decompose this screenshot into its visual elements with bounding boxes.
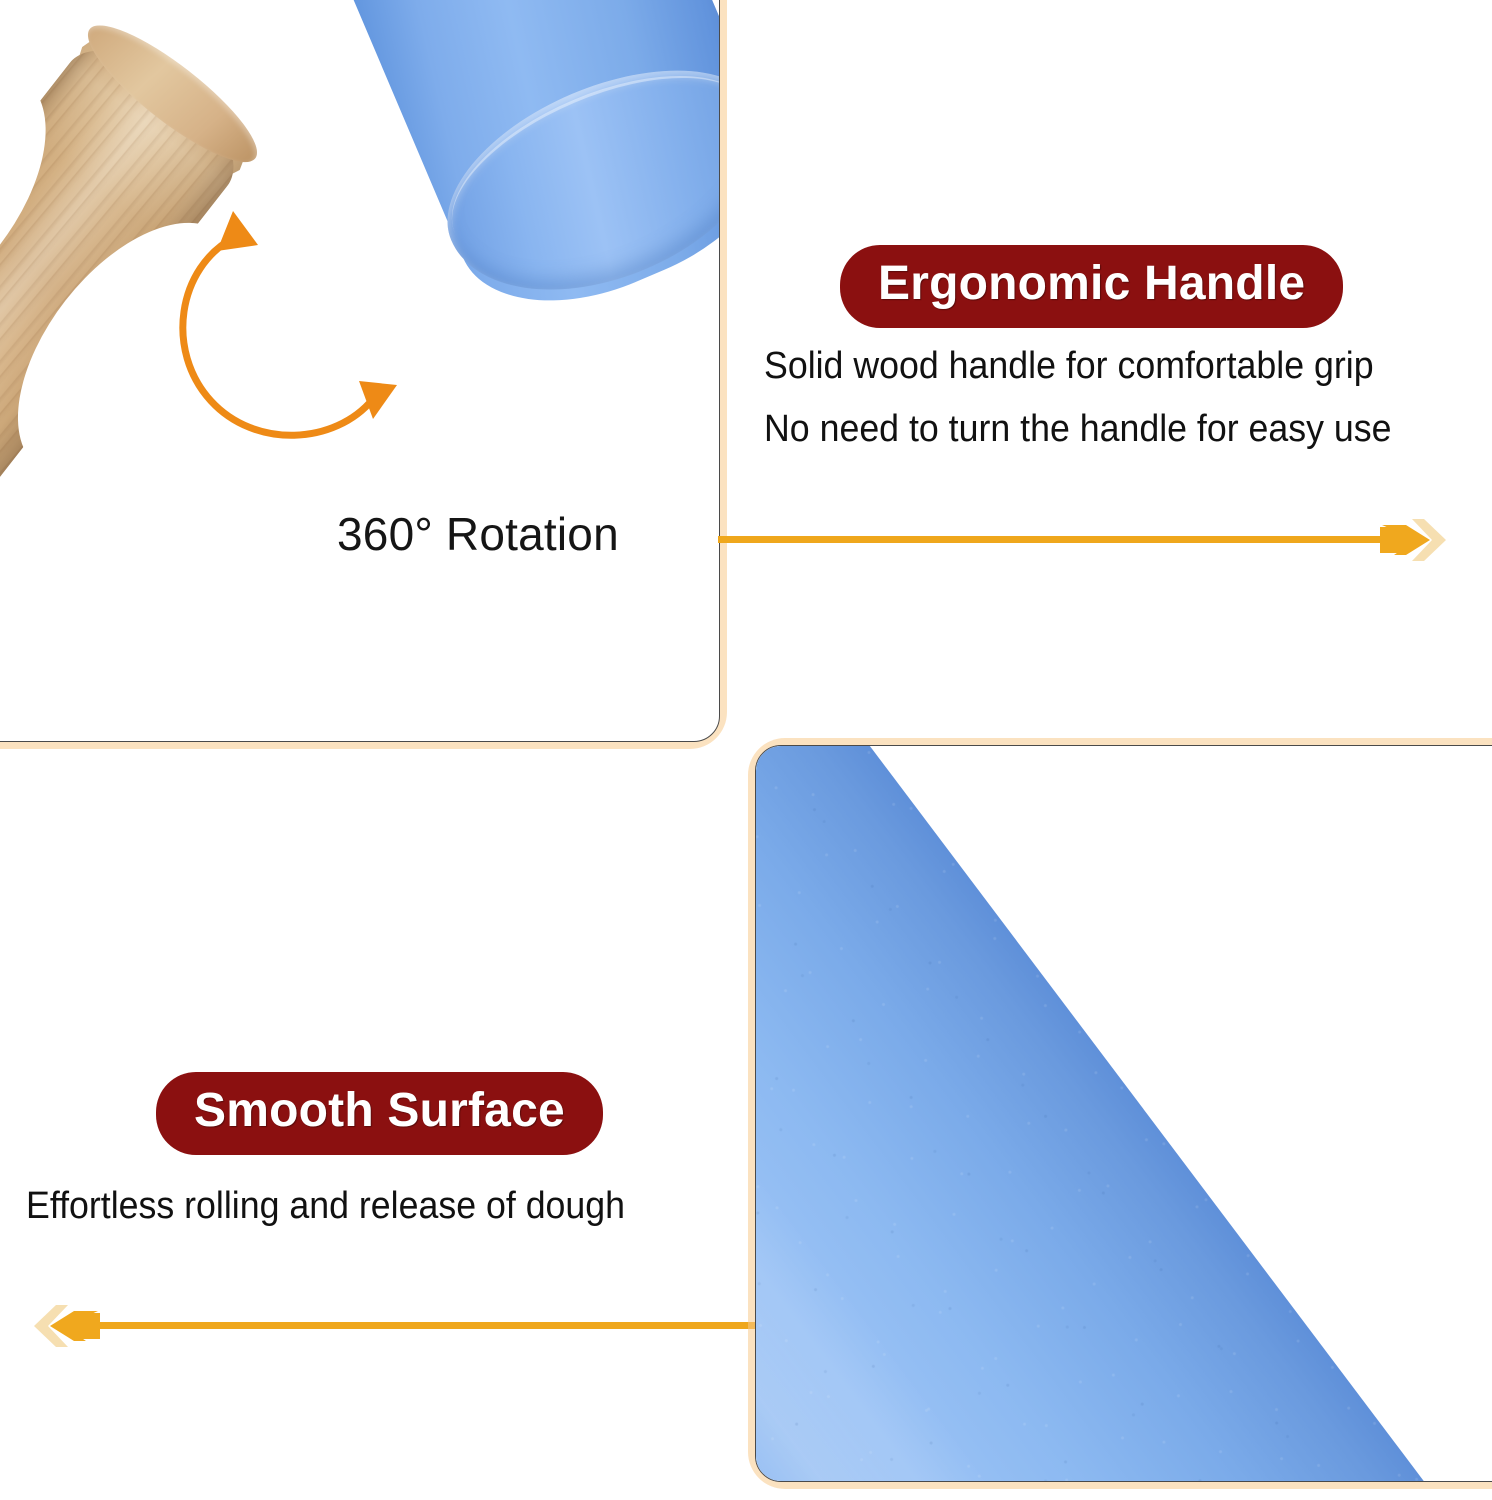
- badge-smooth-surface: Smooth Surface: [156, 1072, 603, 1155]
- connector-line-bottom: [92, 1322, 760, 1329]
- silicone-roller-end-cap: [330, 0, 719, 340]
- rotation-caption: 360° Rotation: [337, 507, 619, 561]
- handle-photo-panel: 360° Rotation: [0, 0, 720, 742]
- ergonomic-feature-line-1: Solid wood handle for comfortable grip: [764, 345, 1374, 388]
- badge-ergonomic-handle: Ergonomic Handle: [840, 245, 1343, 328]
- ergonomic-feature-line-2: No need to turn the handle for easy use: [764, 408, 1392, 451]
- surface-photo-stage: [756, 746, 1492, 1481]
- silicone-surface-texture: [756, 746, 1492, 1481]
- double-chevron-right-icon: [1380, 511, 1446, 569]
- surface-photo-panel: [755, 745, 1492, 1482]
- handle-photo-stage: 360° Rotation: [0, 0, 719, 741]
- double-chevron-left-icon: [34, 1297, 100, 1355]
- silicone-rolling-pin-body: [756, 746, 1492, 1481]
- smooth-feature-line-1: Effortless rolling and release of dough: [26, 1185, 625, 1228]
- connector-line-top: [718, 536, 1388, 543]
- wooden-handle: [0, 11, 274, 561]
